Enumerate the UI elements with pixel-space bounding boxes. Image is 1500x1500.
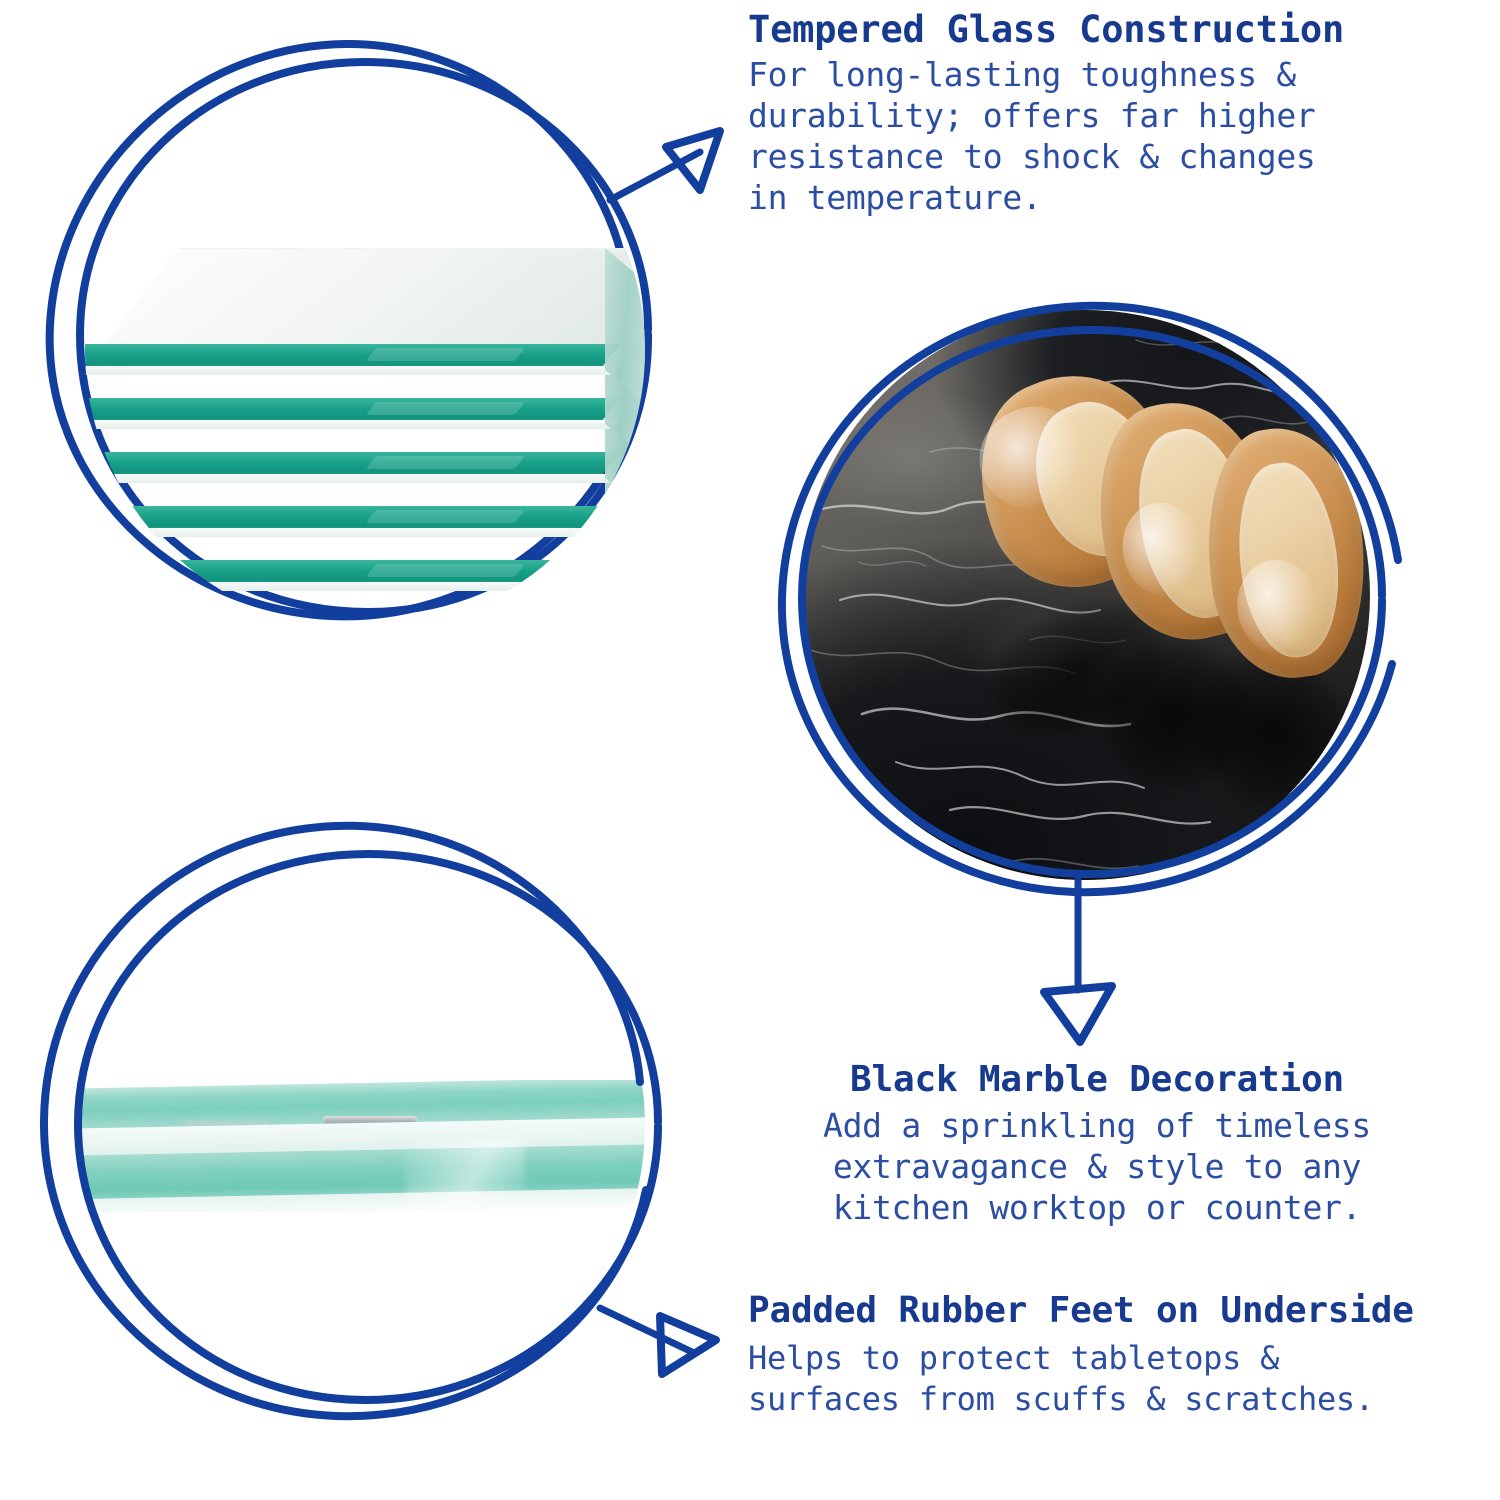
arrow-down-icon — [1044, 986, 1112, 1042]
feet-feature-title: Padded Rubber Feet on Underside — [748, 1288, 1468, 1334]
glass-feature-body: For long-lasting toughness & durability;… — [748, 54, 1448, 218]
marble-feature-text: Black Marble Decoration Add a sprinkling… — [742, 1058, 1452, 1228]
marble-feature-body: Add a sprinkling of timeless extravaganc… — [742, 1105, 1452, 1228]
glass-feature-title: Tempered Glass Construction — [748, 8, 1448, 52]
arrow-up-right-icon — [666, 131, 720, 190]
rubber-foot-photo — [75, 840, 645, 1410]
arrow-right-down-icon — [660, 1316, 716, 1374]
glass-stack-photo — [85, 70, 645, 630]
black-marble-photo — [800, 310, 1370, 880]
marble-feature-title: Black Marble Decoration — [742, 1058, 1452, 1102]
feet-feature-body: Helps to protect tabletops & surfaces fr… — [748, 1338, 1468, 1420]
glass-feature-text: Tempered Glass Construction For long-las… — [748, 8, 1448, 218]
feet-feature-text: Padded Rubber Feet on Underside Helps to… — [748, 1288, 1468, 1420]
infographic-canvas: Tempered Glass Construction For long-las… — [0, 0, 1500, 1500]
